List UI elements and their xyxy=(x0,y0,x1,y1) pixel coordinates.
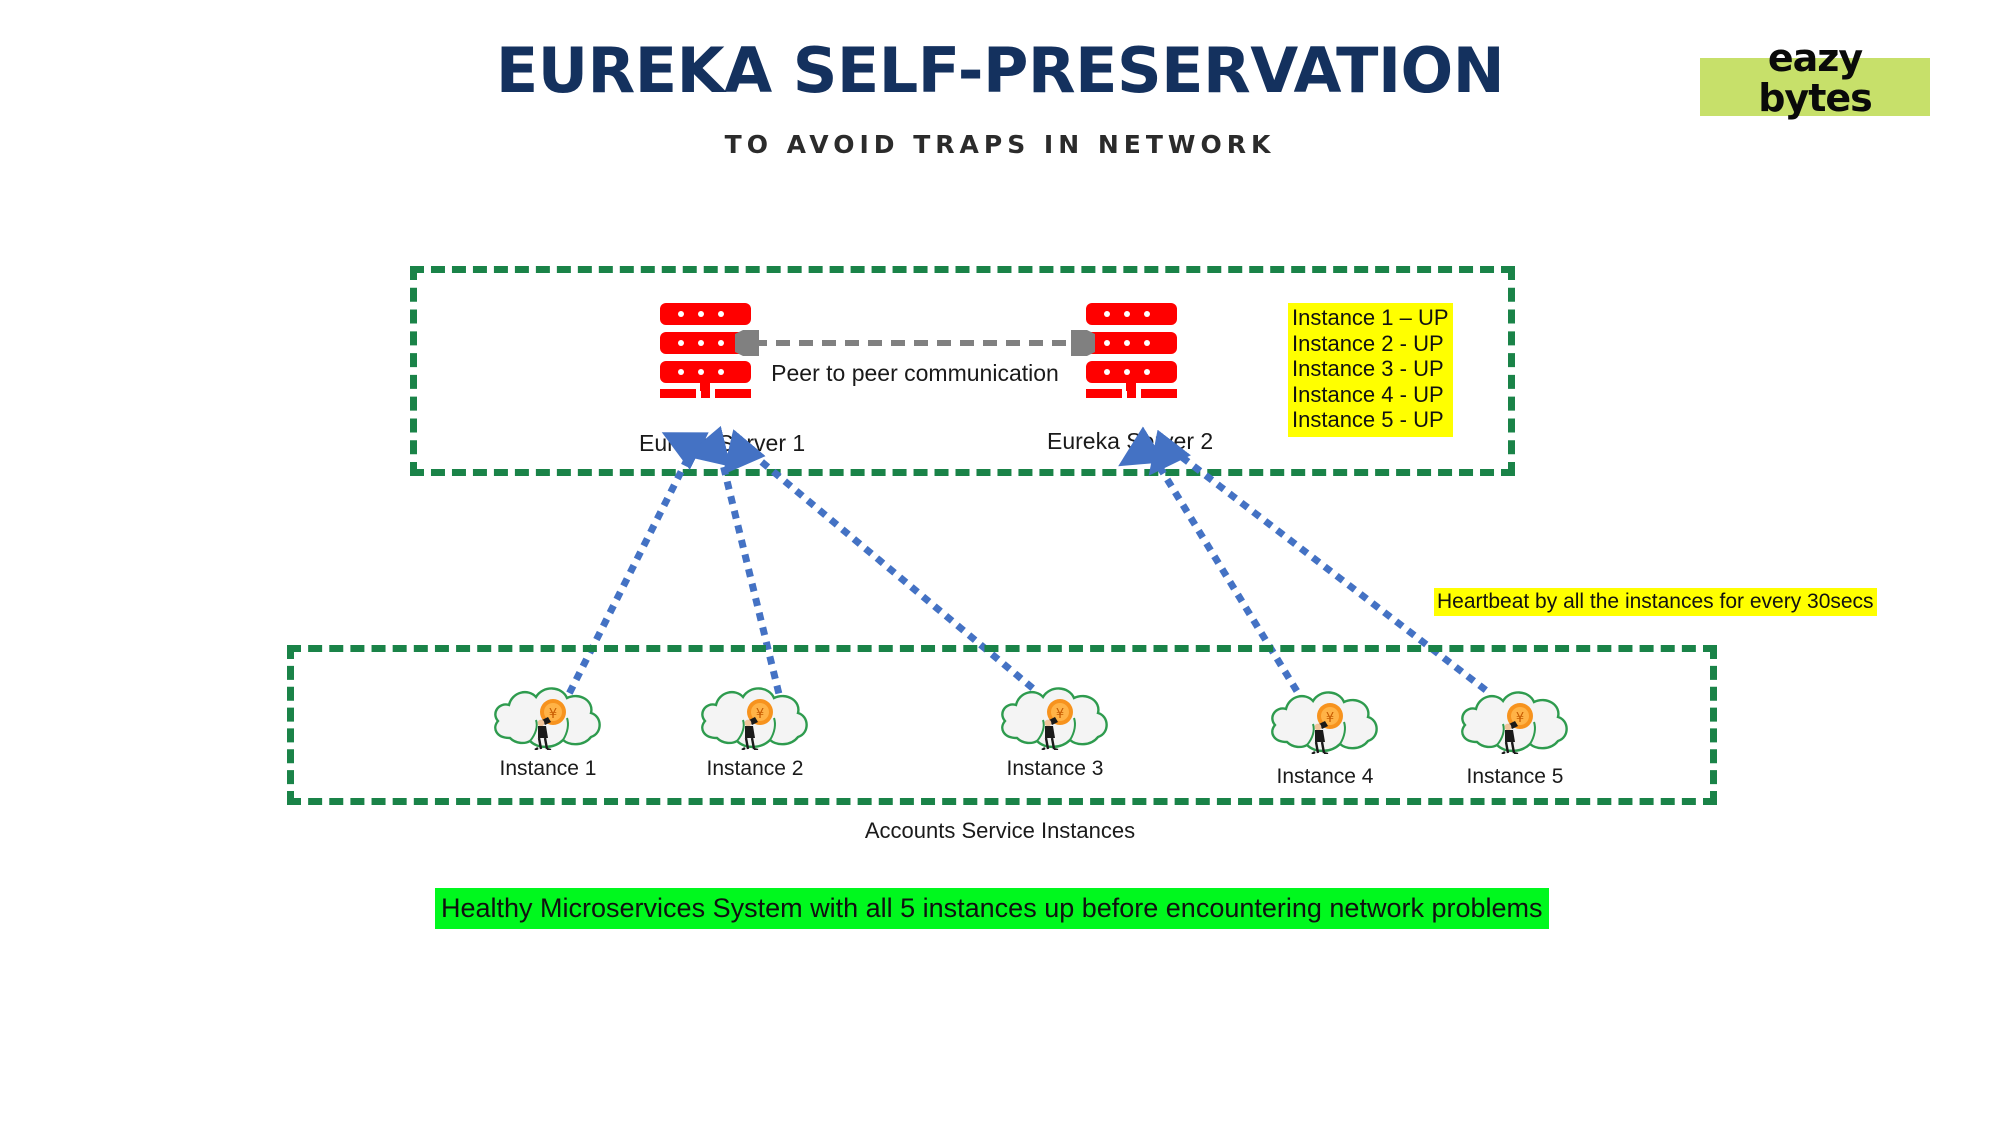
instance-4-label: Instance 4 xyxy=(1245,765,1405,789)
brand-logo: eazy bytes xyxy=(1700,58,1930,116)
svg-text:¥: ¥ xyxy=(549,707,557,722)
svg-text:¥: ¥ xyxy=(1056,707,1064,722)
instance-1-label: Instance 1 xyxy=(468,757,628,781)
eureka-server-2-label: Eureka Server 2 xyxy=(1047,428,1213,455)
svg-text:¥: ¥ xyxy=(1326,711,1334,726)
logo-text: eazy bytes xyxy=(1700,38,1930,118)
instance-1-icon: ¥ Instance 1 xyxy=(488,680,608,780)
accounts-service-instances-label: Accounts Service Instances xyxy=(0,818,2000,844)
peer-communication-label: Peer to peer communication xyxy=(760,360,1070,387)
instance-4-icon: ¥ Instance 4 xyxy=(1265,684,1385,784)
server-base-middle xyxy=(1127,389,1136,398)
instance-5-icon: ¥ Instance 5 xyxy=(1455,684,1575,784)
instance-5-label: Instance 5 xyxy=(1435,765,1595,789)
logo-line-2: bytes xyxy=(1700,78,1930,118)
developer-person-icon: ¥ xyxy=(1305,702,1345,754)
server-bar-middle xyxy=(1086,332,1177,354)
status-line: Instance 1 – UP xyxy=(1292,305,1449,331)
instance-3-label: Instance 3 xyxy=(975,757,1135,781)
peer-to-peer-arrow-icon xyxy=(735,330,1095,356)
diagram-canvas: EUREKA SELF-PRESERVATION TO AVOID TRAPS … xyxy=(0,0,2000,1125)
eureka-server-1-label: Eureka Server 1 xyxy=(639,430,805,457)
status-line: Instance 3 - UP xyxy=(1292,356,1449,382)
instance-2-label: Instance 2 xyxy=(675,757,835,781)
server-base-right xyxy=(1141,389,1177,398)
server-bar-top xyxy=(1086,303,1177,325)
developer-person-icon: ¥ xyxy=(1035,698,1075,750)
server-base-left xyxy=(660,389,696,398)
developer-person-icon: ¥ xyxy=(1495,702,1535,754)
server-bar-top xyxy=(660,303,751,325)
heartbeat-note: Heartbeat by all the instances for every… xyxy=(1434,588,1877,616)
server-base-middle xyxy=(701,389,710,398)
instance-3-icon: ¥ Instance 3 xyxy=(995,680,1115,780)
healthy-system-banner: Healthy Microservices System with all 5 … xyxy=(435,888,1549,929)
status-line: Instance 4 - UP xyxy=(1292,382,1449,408)
server-bar-bottom xyxy=(1086,361,1177,383)
logo-line-1: eazy xyxy=(1700,38,1930,78)
server-bar-bottom xyxy=(660,361,751,383)
heartbeat-arrows xyxy=(0,0,2000,1125)
instance-2-icon: ¥ Instance 2 xyxy=(695,680,815,780)
page-subtitle: TO AVOID TRAPS IN NETWORK xyxy=(0,130,2000,159)
status-line: Instance 5 - UP xyxy=(1292,407,1449,433)
instance-status-list: Instance 1 – UP Instance 2 - UP Instance… xyxy=(1288,303,1453,437)
server-base-right xyxy=(715,389,751,398)
eureka-server-2-icon xyxy=(1086,303,1182,398)
server-base-left xyxy=(1086,389,1122,398)
status-line: Instance 2 - UP xyxy=(1292,331,1449,357)
svg-text:¥: ¥ xyxy=(756,707,764,722)
developer-person-icon: ¥ xyxy=(528,698,568,750)
svg-text:¥: ¥ xyxy=(1516,711,1524,726)
developer-person-icon: ¥ xyxy=(735,698,775,750)
